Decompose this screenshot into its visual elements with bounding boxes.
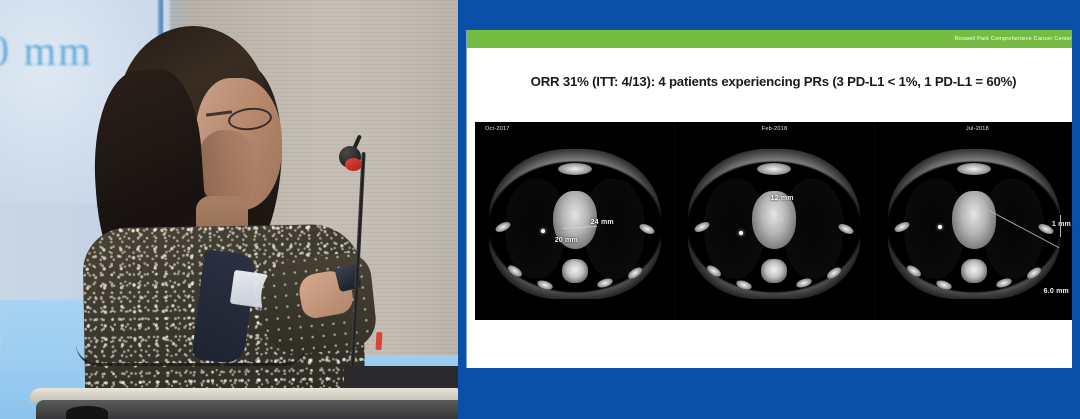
- ct-measurement-label: 12 mm: [771, 195, 794, 202]
- ct-thorax-cross-section: [888, 149, 1060, 299]
- microphone-red-band: [376, 332, 383, 350]
- organization-name: Roswell Park Comprehensive Cancer Center: [955, 36, 1080, 42]
- slide-frame-right: [1072, 0, 1080, 419]
- screenshot-root: 0 mm Roswell Park Compre: [0, 0, 1080, 419]
- ct-panel-interim: Feb-2018: [674, 122, 873, 320]
- ct-caliper-marker: [739, 231, 743, 235]
- slide-frame-bottom: [458, 368, 1080, 419]
- ct-vertebra: [562, 259, 588, 283]
- slide-white-space: [475, 320, 1073, 322]
- ct-thorax-cross-section: [489, 149, 661, 299]
- ct-image-strip: Oct-2017: [475, 122, 1073, 320]
- projected-background-text: 0 mm: [0, 28, 93, 76]
- ct-thorax-cross-section: [688, 149, 860, 299]
- ct-measurement-label: 20 mm: [555, 237, 578, 244]
- ct-rib: [796, 277, 814, 290]
- slide-panel: Roswell Park Comprehensive Cancer Center…: [458, 0, 1080, 419]
- ct-panel-followup: Jul-2018: [874, 122, 1073, 320]
- ct-rib: [935, 279, 953, 292]
- slide-title: ORR 31% (ITT: 4/13): 4 patients experien…: [475, 74, 1072, 89]
- ct-mediastinum: [952, 191, 996, 249]
- ct-sternum: [558, 163, 592, 175]
- ct-measurement-label: 1 mm: [1052, 221, 1071, 228]
- ct-vertebra: [961, 259, 987, 283]
- ct-measurement-label: 6.0 mm: [1044, 288, 1069, 295]
- ct-panel-date: Jul-2018: [966, 126, 989, 132]
- speaker-video-panel: 0 mm: [0, 0, 458, 419]
- ct-rib: [736, 279, 754, 292]
- ct-caliper-marker: [541, 229, 545, 233]
- slide-card: Roswell Park Comprehensive Cancer Center…: [466, 30, 1080, 368]
- slide-green-banner: Roswell Park Comprehensive Cancer Center: [467, 30, 1080, 48]
- ct-measurement-label: 24 mm: [591, 219, 614, 226]
- microphone-red-windscreen: [345, 158, 362, 171]
- microphone-cable: [76, 344, 306, 366]
- ct-rib: [995, 277, 1013, 290]
- ct-sternum: [757, 163, 791, 175]
- ct-sternum: [957, 163, 991, 175]
- podium-cutout: [66, 406, 108, 419]
- ct-rib: [596, 277, 614, 290]
- ct-vertebra: [761, 259, 787, 283]
- ct-panel-date: Oct-2017: [485, 126, 510, 132]
- ct-rib: [536, 279, 554, 292]
- ct-panel-date: Feb-2018: [762, 126, 788, 132]
- ct-panel-baseline: Oct-2017: [475, 122, 674, 320]
